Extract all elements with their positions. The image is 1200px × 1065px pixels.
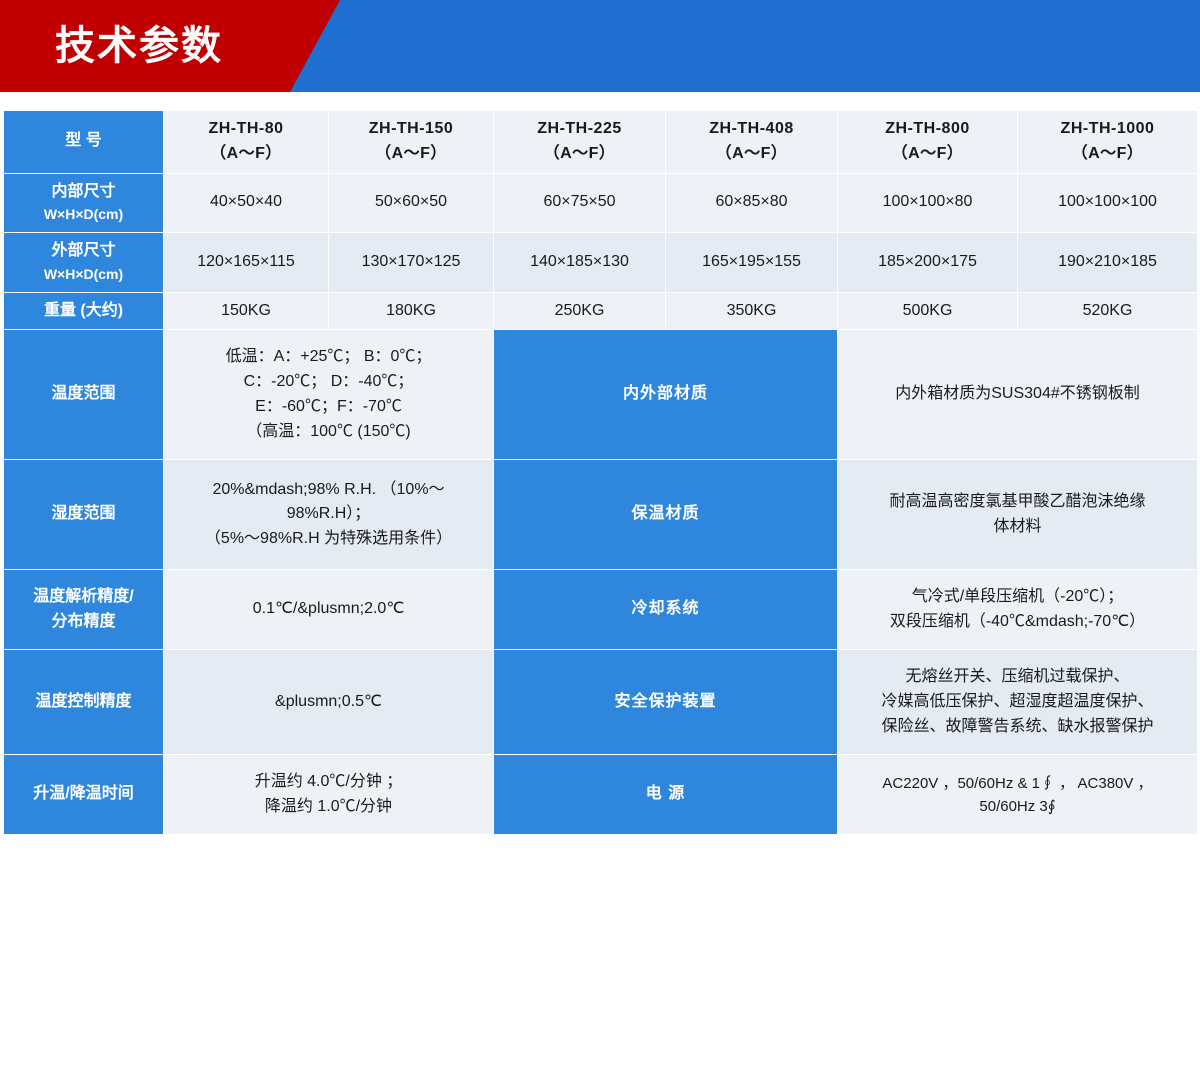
inner-size-value-6: 100×100×100: [1018, 173, 1198, 232]
humidity-line-1: 20%&mdash;98% R.H. （10%～: [168, 478, 489, 503]
mid-label-power: 电 源: [494, 755, 838, 835]
model-cell-3: ZH-TH-225 （A～F）: [494, 111, 666, 174]
temp-resolution-value: 0.1℃/&plusmn;2.0℃: [164, 570, 494, 650]
model-variant-6: （A～F）: [1022, 142, 1193, 167]
row-label-inner-size: 内部尺寸 W×H×D(cm): [4, 173, 164, 232]
weight-value-5: 500KG: [838, 292, 1018, 330]
model-variant-4: （A～F）: [670, 142, 833, 167]
model-cell-2: ZH-TH-150 （A～F）: [329, 111, 494, 174]
humidity-line-2: 98%R.H）；: [168, 502, 489, 527]
model-name-6: ZH-TH-1000: [1061, 120, 1155, 137]
inner-size-value-2: 50×60×50: [329, 173, 494, 232]
mid-label-insulation: 保温材质: [494, 460, 838, 570]
inner-size-value-1: 40×50×40: [164, 173, 329, 232]
temp-range-line-3: E：-60℃；F：-70℃: [168, 395, 489, 420]
table-row: 温度控制精度 &plusmn;0.5℃ 安全保护装置 无熔丝开关、压缩机过载保护…: [4, 650, 1198, 755]
cooling-value: 气冷式/单段压缩机（-20℃）； 双段压缩机（-40℃&mdash;-70℃）: [838, 570, 1198, 650]
model-name-4: ZH-TH-408: [709, 120, 794, 137]
humidity-range-value: 20%&mdash;98% R.H. （10%～ 98%R.H）； （5%～98…: [164, 460, 494, 570]
temp-range-line-4: （高温：100℃ (150℃): [168, 420, 489, 445]
safety-line-1: 无熔丝开关、压缩机过载保护、: [842, 665, 1193, 690]
insulation-line-1: 耐高温高密度氯基甲酸乙醋泡沫绝缘: [842, 490, 1193, 515]
model-name-5: ZH-TH-800: [885, 120, 970, 137]
page-title: 技术参数: [55, 0, 223, 92]
safety-line-3: 保险丝、故障警告系统、缺水报警保护: [842, 715, 1193, 740]
table-row: 湿度范围 20%&mdash;98% R.H. （10%～ 98%R.H）； （…: [4, 460, 1198, 570]
temp-range-value: 低温：A：+25℃； B：0℃； C：-20℃； D：-40℃； E：-60℃；…: [164, 330, 494, 460]
inner-size-label: 内部尺寸: [51, 183, 115, 200]
weight-value-2: 180KG: [329, 292, 494, 330]
model-cell-1: ZH-TH-80 （A～F）: [164, 111, 329, 174]
table-row: 温度范围 低温：A：+25℃； B：0℃； C：-20℃； D：-40℃； E：…: [4, 330, 1198, 460]
table-row: 升温/降温时间 升温约 4.0℃/分钟 ； 降温约 1.0℃/分钟 电 源 AC…: [4, 755, 1198, 835]
outer-size-unit: W×H×D(cm): [8, 264, 159, 286]
table-row: 外部尺寸 W×H×D(cm) 120×165×115 130×170×125 1…: [4, 233, 1198, 292]
row-label-temp-range: 温度范围: [4, 330, 164, 460]
weight-value-3: 250KG: [494, 292, 666, 330]
spec-table: 型 号 ZH-TH-80 （A～F） ZH-TH-150 （A～F） ZH-TH…: [3, 110, 1198, 835]
table-row: 重量 (大约) 150KG 180KG 250KG 350KG 500KG 52…: [4, 292, 1198, 330]
weight-value-6: 520KG: [1018, 292, 1198, 330]
safety-value: 无熔丝开关、压缩机过载保护、 冷媒高低压保护、超湿度超温度保护、 保险丝、故障警…: [838, 650, 1198, 755]
humidity-line-3: （5%～98%R.H 为特殊选用条件）: [168, 527, 489, 552]
outer-size-value-6: 190×210×185: [1018, 233, 1198, 292]
ramp-time-value: 升温约 4.0℃/分钟 ； 降温约 1.0℃/分钟: [164, 755, 494, 835]
weight-value-4: 350KG: [666, 292, 838, 330]
mid-label-safety: 安全保护装置: [494, 650, 838, 755]
model-variant-3: （A～F）: [498, 142, 661, 167]
table-row: 温度解析精度/ 分布精度 0.1℃/&plusmn;2.0℃ 冷却系统 气冷式/…: [4, 570, 1198, 650]
row-label-outer-size: 外部尺寸 W×H×D(cm): [4, 233, 164, 292]
model-name-1: ZH-TH-80: [208, 120, 283, 137]
spec-table-wrapper: 型 号 ZH-TH-80 （A～F） ZH-TH-150 （A～F） ZH-TH…: [0, 92, 1200, 835]
mid-label-cooling: 冷却系统: [494, 570, 838, 650]
power-line-1: AC220V ，50/60Hz & 1∮ ， AC380V ，: [842, 772, 1193, 795]
table-row: 型 号 ZH-TH-80 （A～F） ZH-TH-150 （A～F） ZH-TH…: [4, 111, 1198, 174]
inner-size-value-4: 60×85×80: [666, 173, 838, 232]
row-label-temp-control: 温度控制精度: [4, 650, 164, 755]
temp-control-value: &plusmn;0.5℃: [164, 650, 494, 755]
outer-size-value-3: 140×185×130: [494, 233, 666, 292]
outer-size-value-4: 165×195×155: [666, 233, 838, 292]
row-label-weight: 重量 (大约): [4, 292, 164, 330]
inner-size-unit: W×H×D(cm): [8, 204, 159, 226]
model-cell-6: ZH-TH-1000 （A～F）: [1018, 111, 1198, 174]
weight-value-1: 150KG: [164, 292, 329, 330]
insulation-value: 耐高温高密度氯基甲酸乙醋泡沫绝缘 体材料: [838, 460, 1198, 570]
ramp-line-2: 降温约 1.0℃/分钟: [168, 795, 489, 820]
material-value: 内外箱材质为SUS304#不锈钢板制: [838, 330, 1198, 460]
safety-line-2: 冷媒高低压保护、超湿度超温度保护、: [842, 690, 1193, 715]
mid-label-material: 内外部材质: [494, 330, 838, 460]
inner-size-value-3: 60×75×50: [494, 173, 666, 232]
insulation-line-2: 体材料: [842, 515, 1193, 540]
power-line-2: 50/60Hz 3∮: [842, 795, 1193, 818]
ramp-line-1: 升温约 4.0℃/分钟 ；: [168, 770, 489, 795]
cooling-line-2: 双段压缩机（-40℃&mdash;-70℃）: [842, 610, 1193, 635]
model-variant-1: （A～F）: [168, 142, 324, 167]
model-name-3: ZH-TH-225: [537, 120, 622, 137]
inner-size-value-5: 100×100×80: [838, 173, 1018, 232]
power-value: AC220V ，50/60Hz & 1∮ ， AC380V ， 50/60Hz …: [838, 755, 1198, 835]
temp-range-line-2: C：-20℃； D：-40℃；: [168, 370, 489, 395]
model-cell-5: ZH-TH-800 （A～F）: [838, 111, 1018, 174]
outer-size-label: 外部尺寸: [51, 242, 115, 259]
page-banner: 技术参数: [0, 0, 1200, 92]
cooling-line-1: 气冷式/单段压缩机（-20℃）；: [842, 585, 1193, 610]
table-row: 内部尺寸 W×H×D(cm) 40×50×40 50×60×50 60×75×5…: [4, 173, 1198, 232]
temp-resolution-label-2: 分布精度: [8, 610, 159, 635]
row-label-ramp-time: 升温/降温时间: [4, 755, 164, 835]
temp-range-line-1: 低温：A：+25℃； B：0℃；: [168, 345, 489, 370]
outer-size-value-2: 130×170×125: [329, 233, 494, 292]
outer-size-value-1: 120×165×115: [164, 233, 329, 292]
model-name-2: ZH-TH-150: [369, 120, 454, 137]
temp-resolution-label-1: 温度解析精度/: [8, 585, 159, 610]
row-label-temp-resolution: 温度解析精度/ 分布精度: [4, 570, 164, 650]
model-variant-2: （A～F）: [333, 142, 489, 167]
model-cell-4: ZH-TH-408 （A～F）: [666, 111, 838, 174]
model-variant-5: （A～F）: [842, 142, 1013, 167]
row-label-model: 型 号: [4, 111, 164, 174]
row-label-humidity-range: 湿度范围: [4, 460, 164, 570]
outer-size-value-5: 185×200×175: [838, 233, 1018, 292]
